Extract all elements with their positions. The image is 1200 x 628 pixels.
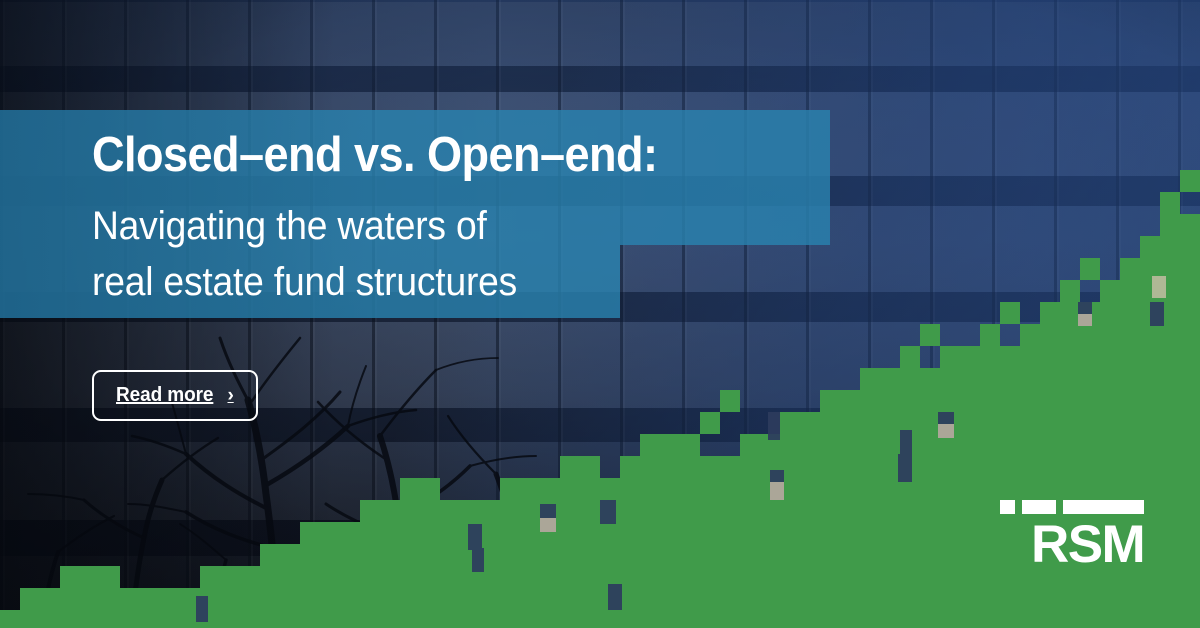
page-subtitle-line-2: real estate fund structures (92, 254, 517, 310)
rsm-logo-bar-small (1000, 500, 1015, 514)
rsm-logo-bars (1000, 500, 1144, 514)
page-title: Closed–end vs. Open–end: (92, 131, 657, 180)
rsm-logo-bar-medium (1022, 500, 1056, 514)
page-subtitle: Navigating the waters of real estate fun… (92, 198, 517, 310)
page-subtitle-line-1: Navigating the waters of (92, 198, 517, 254)
read-more-label: Read more (116, 384, 213, 407)
rsm-wordmark: RSM (1000, 521, 1144, 570)
rsm-logo-bar-long (1063, 500, 1144, 514)
rsm-logo: RSM (1000, 500, 1144, 570)
chevron-right-icon: › (227, 386, 233, 405)
read-more-button[interactable]: Read more › (92, 370, 258, 421)
promo-banner: Closed–end vs. Open–end: Navigating the … (0, 0, 1200, 628)
